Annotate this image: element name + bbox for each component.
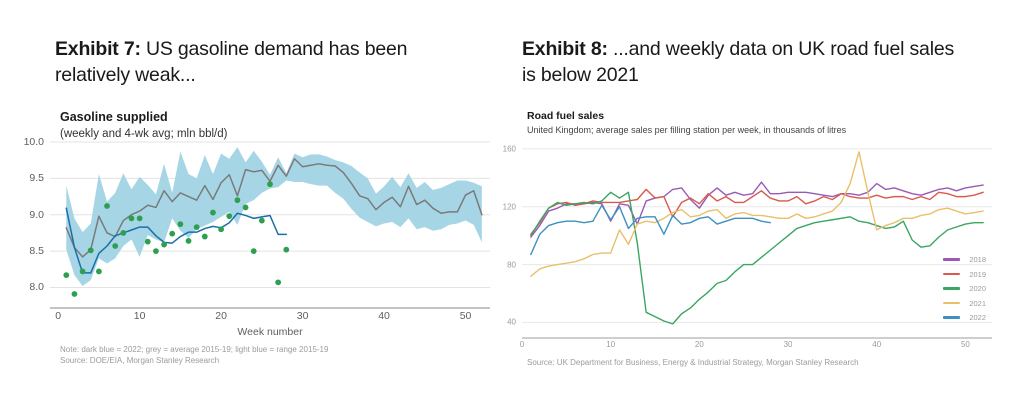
legend-swatch-icon <box>943 302 960 305</box>
legend-label: 2022 <box>969 313 986 322</box>
exhibit-7-x-tick: 20 <box>215 310 227 322</box>
legend-item-2019[interactable]: 2019 <box>943 270 986 279</box>
exhibit-8-plot-area: 20182019202020212022 1601208040010203040… <box>522 146 992 334</box>
exhibit-8-x-tick: 0 <box>520 340 524 349</box>
exhibit-8-chart-title: Road fuel sales <box>527 110 604 122</box>
exhibit-7-x-axis-label: Week number <box>237 326 302 338</box>
exhibit-7-chart-subtitle: (weekly and 4-wk avg; mln bbl/d) <box>60 128 227 140</box>
legend-item-2021[interactable]: 2021 <box>943 299 986 308</box>
exhibit-7-panel: Exhibit 7: US gasoline demand has been r… <box>0 0 512 404</box>
legend-item-2022[interactable]: 2022 <box>943 313 986 322</box>
exhibit-8-x-tick: 30 <box>784 340 793 349</box>
exhibit-7-x-tick: 0 <box>55 310 61 322</box>
exhibit-7-chart-title: Gasoline supplied <box>60 110 168 124</box>
exhibit-8-x-tick: 10 <box>606 340 615 349</box>
legend-item-2018[interactable]: 2018 <box>943 255 986 264</box>
exhibit-8-panel: Exhibit 8: ...and weekly data on UK road… <box>512 0 1024 404</box>
exhibit-8-chart-subtitle: United Kingdom; average sales per fillin… <box>527 125 846 135</box>
legend-label: 2020 <box>969 284 986 293</box>
exhibit-8-legend: 20182019202020212022 <box>943 255 986 322</box>
slide-page: Exhibit 7: US gasoline demand has been r… <box>0 0 1024 404</box>
exhibit-8-x-tick: 40 <box>872 340 881 349</box>
exhibit-8-chart-svg <box>522 146 992 334</box>
exhibit-7-x-tick: 40 <box>378 310 390 322</box>
exhibit-7-y-tick: 9.0 <box>29 209 50 221</box>
exhibit-8-y-tick: 120 <box>503 202 522 211</box>
legend-label: 2021 <box>969 299 986 308</box>
exhibit-7-x-tick: 50 <box>460 310 472 322</box>
exhibit-7-y-tick: 10.0 <box>24 136 50 148</box>
legend-item-2020[interactable]: 2020 <box>943 284 986 293</box>
exhibit-8-heading: Exhibit 8: ...and weekly data on UK road… <box>522 36 962 88</box>
legend-swatch-icon <box>943 287 960 290</box>
exhibit-7-y-tick: 8.5 <box>29 245 50 257</box>
exhibit-8-y-tick: 40 <box>507 318 522 327</box>
exhibit-8-x-tick: 50 <box>961 340 970 349</box>
exhibit-8-label: Exhibit 8: <box>522 38 608 60</box>
legend-swatch-icon <box>943 316 960 319</box>
exhibit-7-note: Note: dark blue = 2022; grey = average 2… <box>60 345 460 366</box>
exhibit-7-y-tick: 9.5 <box>29 172 50 184</box>
exhibit-7-label: Exhibit 7: <box>55 38 141 60</box>
exhibit-7-y-tick: 8.0 <box>29 281 50 293</box>
exhibit-7-x-tick: 30 <box>297 310 309 322</box>
exhibit-7-x-tick: 10 <box>134 310 146 322</box>
legend-swatch-icon <box>943 258 960 261</box>
exhibit-7-heading: Exhibit 7: US gasoline demand has been r… <box>55 36 455 88</box>
exhibit-8-y-tick: 160 <box>503 144 522 153</box>
legend-label: 2018 <box>969 255 986 264</box>
exhibit-8-note: Source: UK Department for Business, Ener… <box>527 358 947 369</box>
exhibit-8-x-tick: 20 <box>695 340 704 349</box>
legend-label: 2019 <box>969 270 986 279</box>
legend-swatch-icon <box>943 273 960 276</box>
exhibit-7-chart-svg <box>50 142 490 302</box>
exhibit-7-plot-area: Week number 10.09.59.08.58.001020304050 <box>50 142 490 302</box>
exhibit-8-y-tick: 80 <box>507 260 522 269</box>
